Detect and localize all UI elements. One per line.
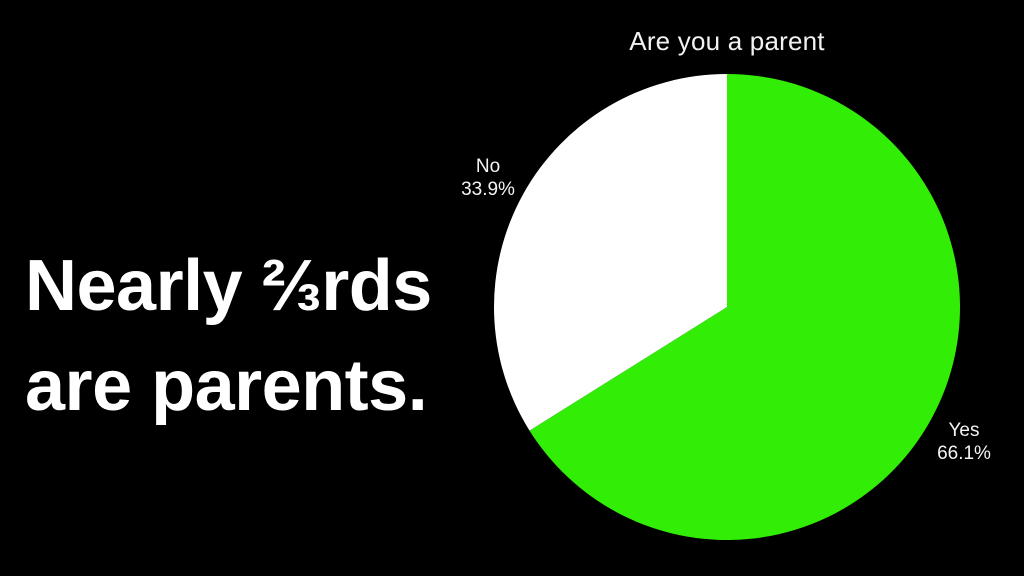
headline-block: Nearly ⅔rds are parents.: [25, 236, 495, 436]
slice-label-yes: Yes 66.1%: [904, 419, 1024, 465]
slice-label-no-percent: 33.9%: [428, 178, 548, 201]
headline-line-2: are parents.: [25, 336, 495, 436]
slide-canvas: Nearly ⅔rds are parents. Are you a paren…: [0, 0, 1024, 576]
pie-slice-group: [494, 74, 960, 540]
slice-label-no: No 33.9%: [428, 155, 548, 201]
slice-label-yes-name: Yes: [904, 419, 1024, 442]
pie-chart: Are you a parent No 33.9% Yes 66.1%: [466, 0, 1024, 576]
slice-label-yes-percent: 66.1%: [904, 442, 1024, 465]
pie-svg: [466, 0, 1024, 576]
headline-line-1: Nearly ⅔rds: [25, 236, 495, 336]
pie-graphic: [466, 0, 1024, 576]
slice-label-no-name: No: [428, 155, 548, 178]
